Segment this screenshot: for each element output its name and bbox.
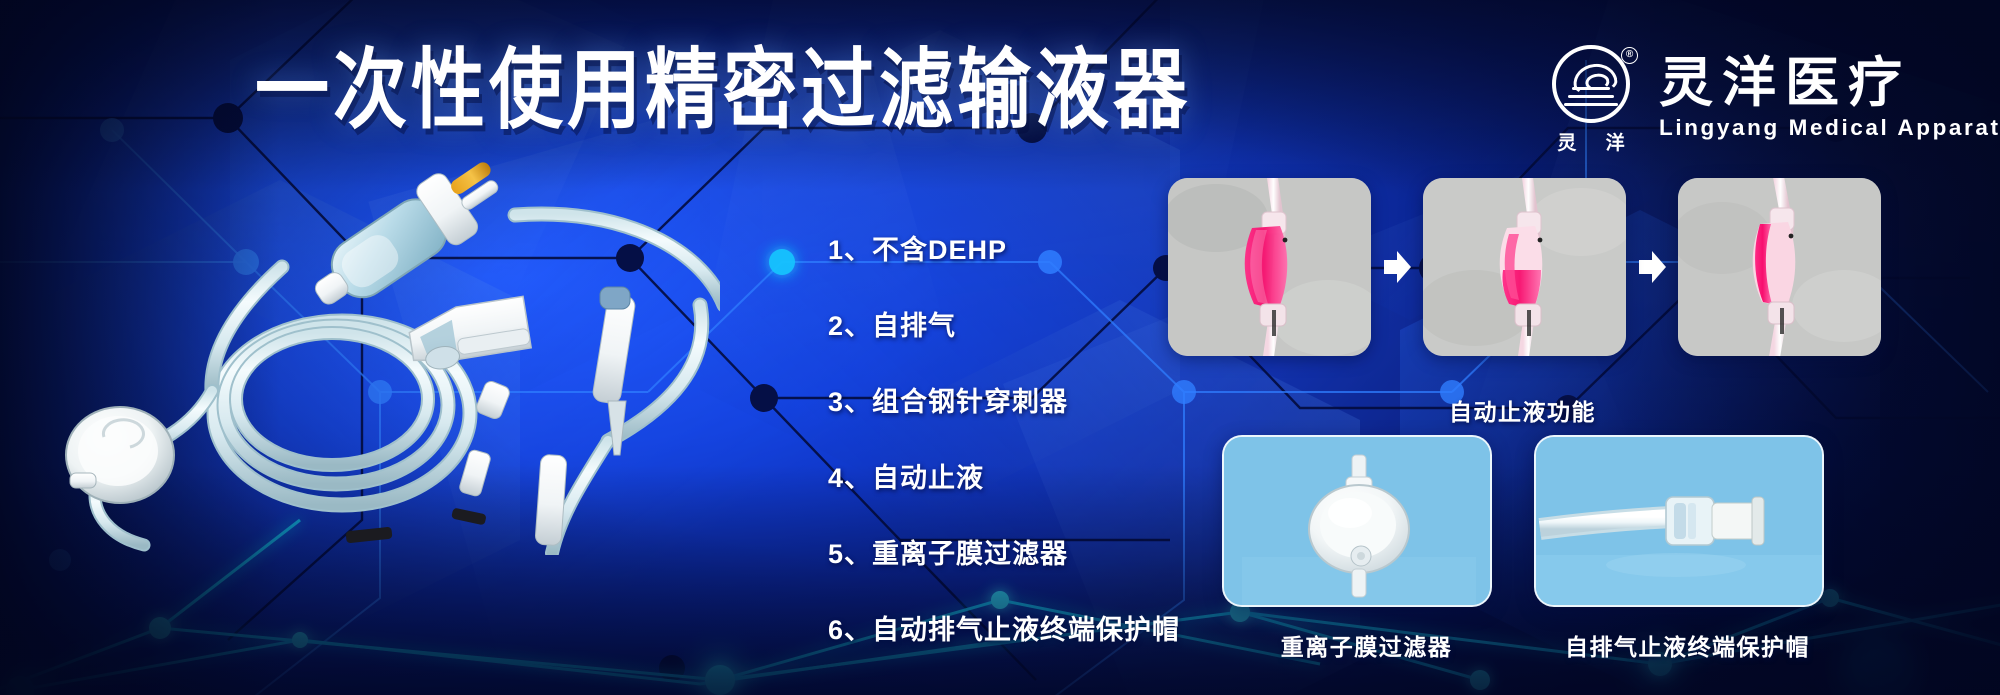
feature-item: 5、重离子膜过滤器 (828, 532, 1180, 571)
seal-emblem-icon (1552, 45, 1630, 123)
feature-item: 1、不含DEHP (828, 228, 1180, 267)
arrow-right-icon (1382, 249, 1412, 285)
logo-mark: ® 灵 洋 (1545, 45, 1637, 155)
page-title: 一次性使用精密过滤输液器 (255, 47, 1191, 134)
sequence-frame-3 (1678, 178, 1881, 356)
drip-chamber (299, 155, 517, 326)
brand-logo: ® 灵 洋 灵洋医疗 Lingyang Medical Apparatus (1545, 45, 2000, 155)
brand-name-en: Lingyang Medical Apparatus (1659, 115, 2000, 141)
product-card-cap (1534, 435, 1824, 607)
arrow-right-icon (1637, 249, 1667, 285)
brand-name-cn: 灵洋医疗 (1659, 55, 2000, 112)
brand-wordmark: 灵洋医疗 Lingyang Medical Apparatus (1659, 55, 2000, 145)
feature-item: 6、自动排气止液终端保护帽 (828, 608, 1180, 647)
valve-photo-full (1168, 178, 1371, 356)
product-caption: 自排气止液终端保护帽 (1533, 628, 1842, 662)
sequence-caption: 自动止液功能 (1449, 393, 1596, 427)
sequence-frame-1 (1168, 178, 1371, 356)
sequence-arrow-1 (1371, 249, 1423, 285)
needle-assembly (535, 287, 636, 546)
product-card-row (1222, 435, 1824, 607)
product-caption-row: 重离子膜过滤器 自排气止液终端保护帽 (1222, 628, 1842, 662)
auto-stop-sequence (1168, 178, 1881, 356)
feature-list: 1、不含DEHP 2、自排气 3、组合钢针穿刺器 4、自动止液 5、重离子膜过滤… (828, 228, 1180, 647)
filter-photo (1224, 437, 1492, 607)
terminal-filter (66, 407, 174, 503)
promotional-banner: 一次性使用精密过滤输液器 ® 灵 洋 灵洋医疗 Lingyang Medical… (0, 0, 2000, 695)
seal-caption: 灵 洋 (1545, 128, 1637, 155)
feature-item: 3、组合钢针穿刺器 (828, 380, 1180, 419)
tubing-clips (345, 508, 486, 544)
wave-icon (1564, 103, 1618, 106)
hero-product-image (60, 155, 720, 555)
infusion-set-illustration (60, 155, 720, 555)
valve-photo-closed (1678, 178, 1881, 356)
sequence-arrow-2 (1626, 249, 1678, 285)
protective-cap-photo (1536, 437, 1824, 607)
feature-item: 4、自动止液 (828, 456, 1180, 495)
product-caption: 重离子膜过滤器 (1222, 628, 1511, 662)
valve-photo-half (1423, 178, 1626, 356)
sequence-frame-2 (1423, 178, 1626, 356)
fish-icon (1571, 61, 1618, 96)
wave-icon (1572, 87, 1610, 90)
registered-trademark-icon: ® (1621, 47, 1638, 64)
wave-icon (1568, 95, 1614, 98)
feature-item: 2、自排气 (828, 304, 1180, 343)
product-card-filter (1222, 435, 1492, 607)
